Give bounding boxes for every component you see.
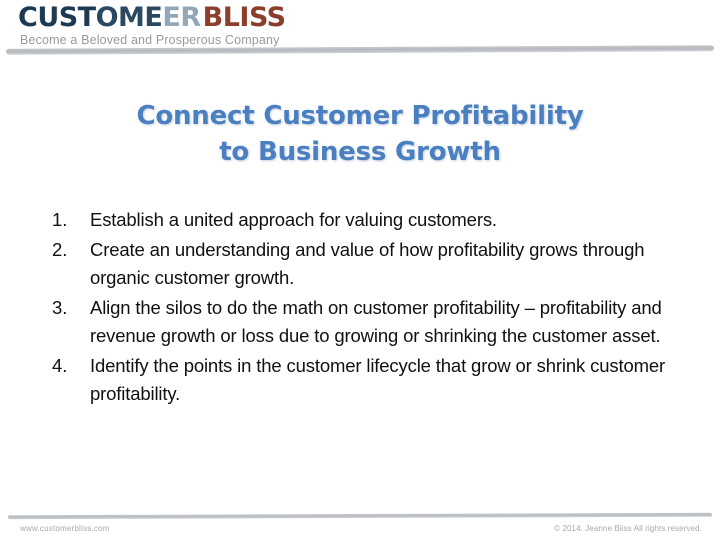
- list-item: 4. Identify the points in the customer l…: [52, 352, 692, 409]
- footer-copyright: © 2014. Jeanne Bliss All rights reserved…: [554, 524, 702, 533]
- page-title-line-1: Connect Customer Profitability: [60, 98, 660, 134]
- list-item-text: Identify the points in the customer life…: [90, 352, 692, 409]
- logo-segment-ome: OME: [96, 3, 163, 33]
- page-title: Connect Customer Profitability to Busine…: [60, 98, 660, 170]
- list-item: 2. Create an understanding and value of …: [52, 236, 692, 293]
- list-item: 1. Establish a united approach for valui…: [52, 206, 692, 235]
- footer-website[interactable]: www.customerbliss.com: [20, 524, 110, 533]
- list-item-number: 1.: [52, 206, 90, 235]
- list-item-number: 2.: [52, 236, 90, 265]
- logo-segment-cust: CUST: [18, 3, 96, 33]
- page-title-line-2: to Business Growth: [60, 134, 660, 170]
- footer-divider: [8, 513, 712, 519]
- logo-segment-er: ER: [162, 3, 200, 33]
- list-item-text: Create an understanding and value of how…: [90, 236, 692, 293]
- customer-bliss-logo: CUSTOMEERBLISS: [18, 3, 286, 33]
- list-item: 3. Align the silos to do the math on cus…: [52, 294, 692, 351]
- logo-segment-bliss: BLISS: [203, 3, 286, 33]
- numbered-list: 1. Establish a united approach for valui…: [52, 206, 692, 410]
- list-item-number: 4.: [52, 352, 90, 381]
- list-item-text: Align the silos to do the math on custom…: [90, 294, 692, 351]
- slide-canvas: CUSTOMEERBLISS Become a Beloved and Pros…: [0, 0, 720, 540]
- list-item-text: Establish a united approach for valuing …: [90, 206, 692, 235]
- list-item-number: 3.: [52, 294, 90, 323]
- logo-tagline: Become a Beloved and Prosperous Company: [20, 33, 279, 47]
- slide-header: CUSTOMEERBLISS Become a Beloved and Pros…: [0, 0, 720, 60]
